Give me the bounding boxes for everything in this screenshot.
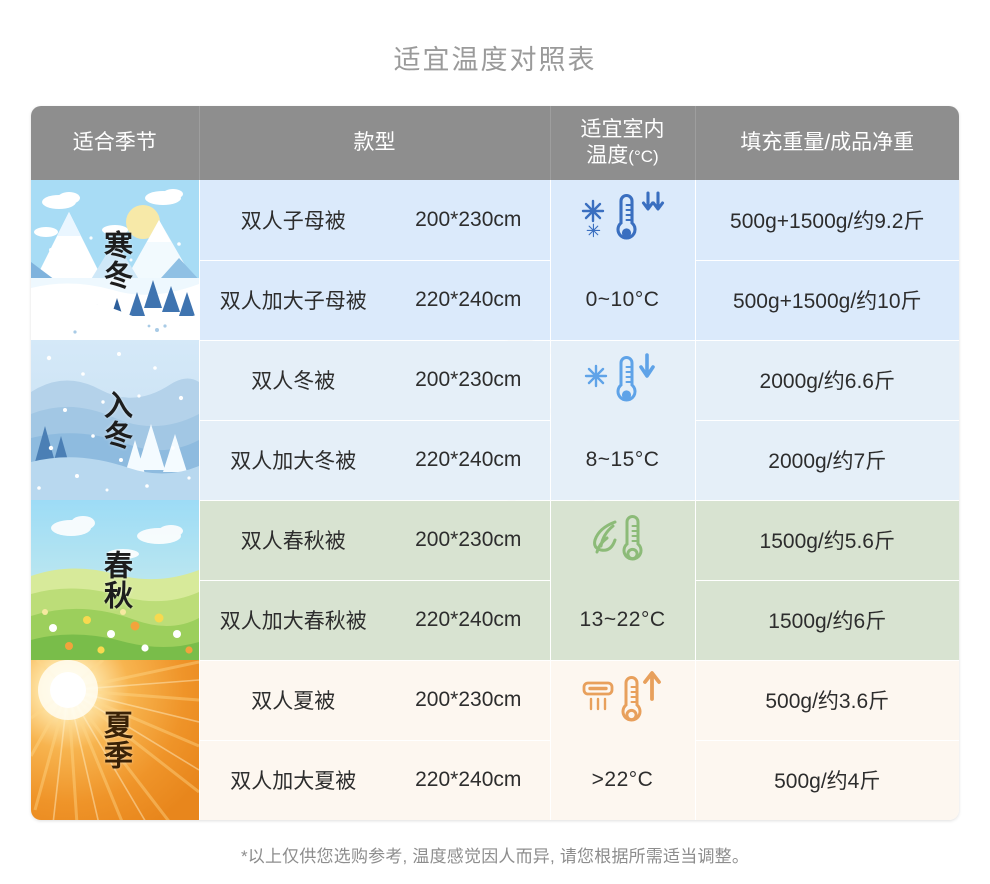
air-conditioner-thermometer-up-arrow-icon: [551, 661, 695, 741]
weight-value: 2000g/约7斤: [695, 420, 959, 500]
temperature-icon-cell-severe-winter: [550, 180, 695, 260]
snowflake-thermometer-down-arrow-icon: [551, 341, 695, 421]
season-label-spring-autumn: 春秋: [31, 500, 199, 660]
snowflake-thermometer-double-down-arrow-icon: [551, 180, 695, 260]
temperature-chart-page: 适宜温度对照表 阳光商城: [0, 0, 990, 884]
weight-value: 2000g/约6.6斤: [695, 340, 959, 420]
model-name: 双人夏被: [199, 660, 387, 740]
model-name: 双人春秋被: [199, 500, 387, 580]
model-name: 双人加大春秋被: [199, 580, 387, 660]
weight-value: 1500g/约5.6斤: [695, 500, 959, 580]
temperature-value: >22°C: [550, 740, 695, 820]
model-size: 200*230cm: [387, 340, 550, 420]
model-name: 双人加大夏被: [199, 740, 387, 820]
model-name: 双人冬被: [199, 340, 387, 420]
table-row: 春秋 双人春秋被 200*230cm: [31, 500, 959, 580]
temperature-value: 13~22°C: [550, 580, 695, 660]
season-cell-spring-autumn: 春秋: [31, 500, 199, 660]
header-temperature-line1: 适宜室内: [551, 117, 695, 143]
weight-value: 500g/约4斤: [695, 740, 959, 820]
leaf-thermometer-icon: [551, 501, 695, 581]
season-text: 夏季: [100, 710, 130, 770]
header-season: 适合季节: [31, 106, 199, 180]
header-temperature: 适宜室内 温度(°C): [550, 106, 695, 180]
season-cell-summer: 夏季: [31, 660, 199, 820]
table-row: 入冬 双人冬被 200*230cm: [31, 340, 959, 420]
model-size: 220*240cm: [387, 580, 550, 660]
temperature-comparison-table: 适合季节 款型 适宜室内 温度(°C) 填充重量/成品净重: [31, 106, 959, 820]
weight-value: 500g+1500g/约10斤: [695, 260, 959, 340]
table-header: 适合季节 款型 适宜室内 温度(°C) 填充重量/成品净重: [31, 106, 959, 180]
model-name: 双人子母被: [199, 180, 387, 260]
temperature-icon-cell-summer: [550, 660, 695, 740]
table-row: 夏季 双人夏被 200*230cm: [31, 660, 959, 740]
season-label-early-winter: 入冬: [31, 340, 199, 500]
weight-value: 1500g/约6斤: [695, 580, 959, 660]
header-temperature-line2: 温度: [586, 144, 628, 167]
temperature-value: 0~10°C: [550, 260, 695, 340]
temperature-icon-cell-early-winter: [550, 340, 695, 420]
season-label-severe-winter: 寒冬: [31, 180, 199, 340]
model-size: 200*230cm: [387, 500, 550, 580]
model-size: 220*240cm: [387, 260, 550, 340]
season-text: 寒冬: [100, 230, 130, 290]
season-cell-severe-winter: 寒冬: [31, 180, 199, 340]
footnote: *以上仅供您选购参考, 温度感觉因人而异, 请您根据所需适当调整。: [0, 842, 990, 867]
header-temperature-line2-wrap: 温度(°C): [551, 143, 695, 169]
season-cell-early-winter: 入冬: [31, 340, 199, 500]
weight-value: 500g+1500g/约9.2斤: [695, 180, 959, 260]
table-body: 寒冬 双人子母被 200*230cm: [31, 180, 959, 820]
season-text: 春秋: [100, 550, 130, 610]
header-weight: 填充重量/成品净重: [695, 106, 959, 180]
comparison-table-wrapper: 阳光商城 适合季节 款型 适宜室内 温度(°C) 填充重量/成品净重: [31, 106, 959, 820]
model-size: 220*240cm: [387, 420, 550, 500]
temperature-icon-cell-spring-autumn: [550, 500, 695, 580]
weight-value: 500g/约3.6斤: [695, 660, 959, 740]
temperature-value: 8~15°C: [550, 420, 695, 500]
header-temperature-unit: (°C): [628, 147, 658, 166]
header-model: 款型: [199, 106, 550, 180]
season-label-summer: 夏季: [31, 660, 199, 820]
model-size: 200*230cm: [387, 180, 550, 260]
page-title: 适宜温度对照表: [0, 38, 990, 77]
model-size: 200*230cm: [387, 660, 550, 740]
header-row: 适合季节 款型 适宜室内 温度(°C) 填充重量/成品净重: [31, 106, 959, 180]
model-name: 双人加大子母被: [199, 260, 387, 340]
model-size: 220*240cm: [387, 740, 550, 820]
model-name: 双人加大冬被: [199, 420, 387, 500]
table-row: 寒冬 双人子母被 200*230cm: [31, 180, 959, 260]
season-text: 入冬: [100, 390, 130, 450]
